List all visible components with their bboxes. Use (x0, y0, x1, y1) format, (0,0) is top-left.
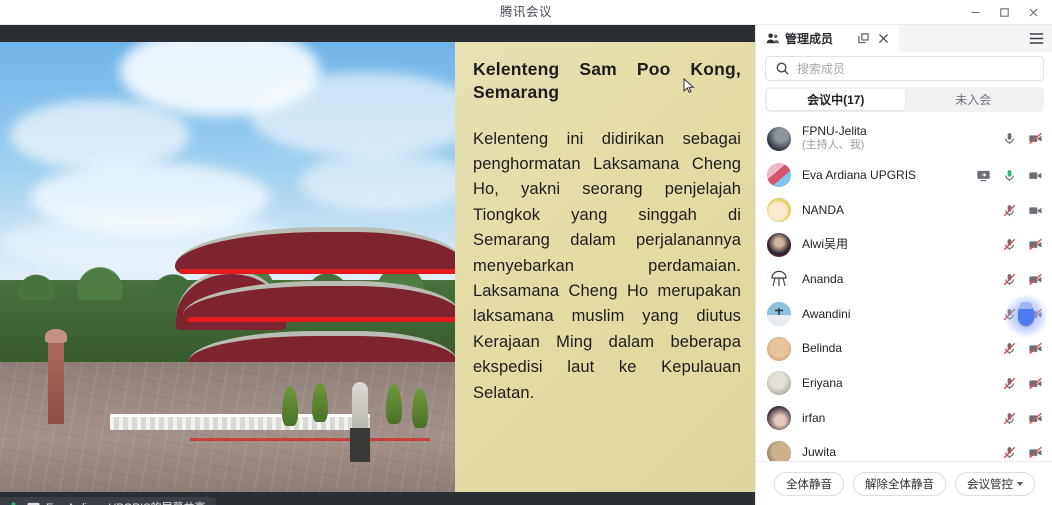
participant-name: Ananda (802, 272, 843, 287)
participant-controls (1002, 341, 1043, 356)
search-icon (775, 61, 790, 76)
unmute-all-button[interactable]: 解除全体静音 (853, 472, 946, 496)
panel-header: 管理成员 (756, 25, 1052, 52)
participant-tabs: 会议中(17) 未入会 (765, 87, 1044, 112)
participant-controls (1002, 131, 1043, 146)
stone-statue (352, 382, 368, 428)
participant-controls (976, 168, 1043, 183)
statue-plinth (350, 428, 370, 462)
microphone-off-icon[interactable] (1002, 272, 1017, 287)
camera-on-icon[interactable] (1028, 168, 1043, 183)
camera-off-icon[interactable] (1028, 411, 1043, 426)
red-barrier-rail (190, 438, 430, 441)
popout-icon[interactable] (856, 25, 871, 52)
list-item[interactable]: Belinda (756, 331, 1052, 366)
screen-sharing-icon[interactable] (976, 168, 991, 183)
participant-name: NANDA (802, 203, 844, 218)
avatar (767, 267, 791, 291)
participant-list[interactable]: FPNU-Jelita (主持人、我) (756, 119, 1052, 486)
microphone-off-icon[interactable] (1002, 237, 1017, 252)
window-controls (961, 0, 1048, 25)
camera-off-icon[interactable] (1028, 272, 1043, 287)
camera-off-icon[interactable] (1028, 341, 1043, 356)
microphone-off-icon[interactable] (1002, 341, 1017, 356)
share-status-text: Eva Ardiana UPGRIS的屏幕共享 (46, 499, 206, 505)
maximize-button[interactable] (990, 0, 1019, 25)
minimize-button[interactable] (961, 0, 990, 25)
shared-slide-content: Kelenteng Sam Poo Kong, Semarang Kelente… (0, 42, 755, 492)
microphone-icon (6, 500, 21, 505)
participant-name: Eva Ardiana UPGRIS (802, 168, 916, 183)
avatar (767, 302, 791, 326)
avatar (767, 198, 791, 222)
participant-name: Juwita (802, 445, 836, 460)
slide-title: Kelenteng Sam Poo Kong, Semarang (473, 58, 741, 105)
close-button[interactable] (1019, 0, 1048, 25)
tab-in-meeting[interactable]: 会议中(17) (767, 89, 905, 110)
screen-share-status-bar: Eva Ardiana UPGRIS的屏幕共享 (0, 492, 755, 505)
shared-screen-stage[interactable]: Kelenteng Sam Poo Kong, Semarang Kelente… (0, 25, 755, 505)
cloud-shape (10, 100, 190, 170)
camera-off-icon[interactable] (1028, 445, 1043, 460)
chevron-down-icon (1017, 482, 1023, 486)
list-item[interactable]: Ananda (756, 262, 1052, 297)
panel-footer: 全体静音 解除全体静音 会议管控 (756, 461, 1052, 505)
mute-all-button[interactable]: 全体静音 (774, 472, 844, 496)
slide-text-panel: Kelenteng Sam Poo Kong, Semarang Kelente… (455, 42, 755, 492)
avatar (767, 371, 791, 395)
close-icon[interactable] (876, 25, 891, 52)
participant-name: Eriyana (802, 376, 843, 391)
participant-role: (主持人、我) (802, 139, 867, 153)
avatar (767, 163, 791, 187)
list-item[interactable]: FPNU-Jelita (主持人、我) (756, 119, 1052, 158)
avatar (767, 233, 791, 257)
microphone-off-icon[interactable] (1002, 376, 1017, 391)
avatar (767, 406, 791, 430)
search-placeholder: 搜索成员 (797, 60, 845, 77)
participant-controls (1002, 203, 1043, 218)
window-title-bar: 腾讯会议 (0, 0, 1052, 25)
microphone-off-icon[interactable] (1002, 445, 1017, 460)
camera-off-icon[interactable] (1028, 307, 1043, 322)
microphone-off-icon[interactable] (1002, 307, 1017, 322)
participant-controls (1002, 272, 1043, 287)
list-item[interactable]: Awandini (756, 297, 1052, 332)
list-item[interactable]: NANDA (756, 193, 1052, 228)
cloud-shape (300, 152, 455, 212)
people-icon (765, 31, 780, 46)
participant-name: irfan (802, 411, 825, 426)
camera-on-icon[interactable] (1028, 203, 1043, 218)
participant-controls (1002, 307, 1043, 322)
stage-top-letterbox (0, 25, 755, 42)
list-item[interactable]: Eva Ardiana UPGRIS (756, 158, 1052, 193)
tab-not-joined[interactable]: 未入会 (905, 89, 1043, 110)
share-status-pill: Eva Ardiana UPGRIS的屏幕共享 (0, 497, 216, 505)
participant-controls (1002, 376, 1043, 391)
tab-manage-members[interactable]: 管理成员 (756, 25, 899, 52)
meeting-control-button[interactable]: 会议管控 (955, 472, 1035, 496)
white-fence (110, 414, 370, 430)
cloud-shape (250, 72, 455, 157)
search-input[interactable]: 搜索成员 (765, 56, 1044, 81)
temple-roof-edge (187, 317, 455, 322)
list-item[interactable]: Alwi吴用 (756, 227, 1052, 262)
temple-roof-tier-1 (175, 227, 455, 273)
avatar (767, 337, 791, 361)
list-item[interactable]: Eriyana (756, 366, 1052, 401)
participant-name: Awandini (802, 307, 850, 322)
participant-name: Belinda (802, 341, 842, 356)
unmute-all-label: 解除全体静音 (865, 476, 934, 492)
mute-all-label: 全体静音 (786, 476, 832, 492)
meeting-control-label: 会议管控 (967, 476, 1013, 492)
camera-off-icon[interactable] (1028, 237, 1043, 252)
slide-body-text: Kelenteng ini didirikan sebagai penghorm… (473, 127, 741, 406)
hamburger-icon[interactable] (1029, 25, 1044, 52)
monitor-icon (26, 500, 41, 505)
camera-off-icon[interactable] (1028, 131, 1043, 146)
participant-controls (1002, 445, 1043, 460)
microphone-off-icon[interactable] (1002, 411, 1017, 426)
cheng-ho-statue (48, 338, 64, 424)
participant-controls (1002, 411, 1043, 426)
camera-off-icon[interactable] (1028, 376, 1043, 391)
list-item[interactable]: irfan (756, 401, 1052, 436)
participant-controls (1002, 237, 1043, 252)
search-area: 搜索成员 (765, 56, 1044, 81)
participants-panel: 管理成员 (755, 25, 1052, 505)
temple-roof-tier-2 (183, 281, 455, 321)
microphone-on-icon[interactable] (1002, 131, 1017, 146)
panel-tab-label: 管理成员 (785, 30, 833, 47)
window-title: 腾讯会议 (0, 0, 1052, 25)
participant-name: FPNU-Jelita (802, 124, 867, 139)
mouse-cursor-icon (683, 78, 695, 94)
participant-name: Alwi吴用 (802, 237, 848, 252)
temple-photograph (0, 42, 455, 492)
microphone-active-icon[interactable] (1002, 168, 1017, 183)
temple-roof-edge (179, 269, 455, 274)
microphone-off-icon[interactable] (1002, 203, 1017, 218)
avatar (767, 127, 791, 151)
